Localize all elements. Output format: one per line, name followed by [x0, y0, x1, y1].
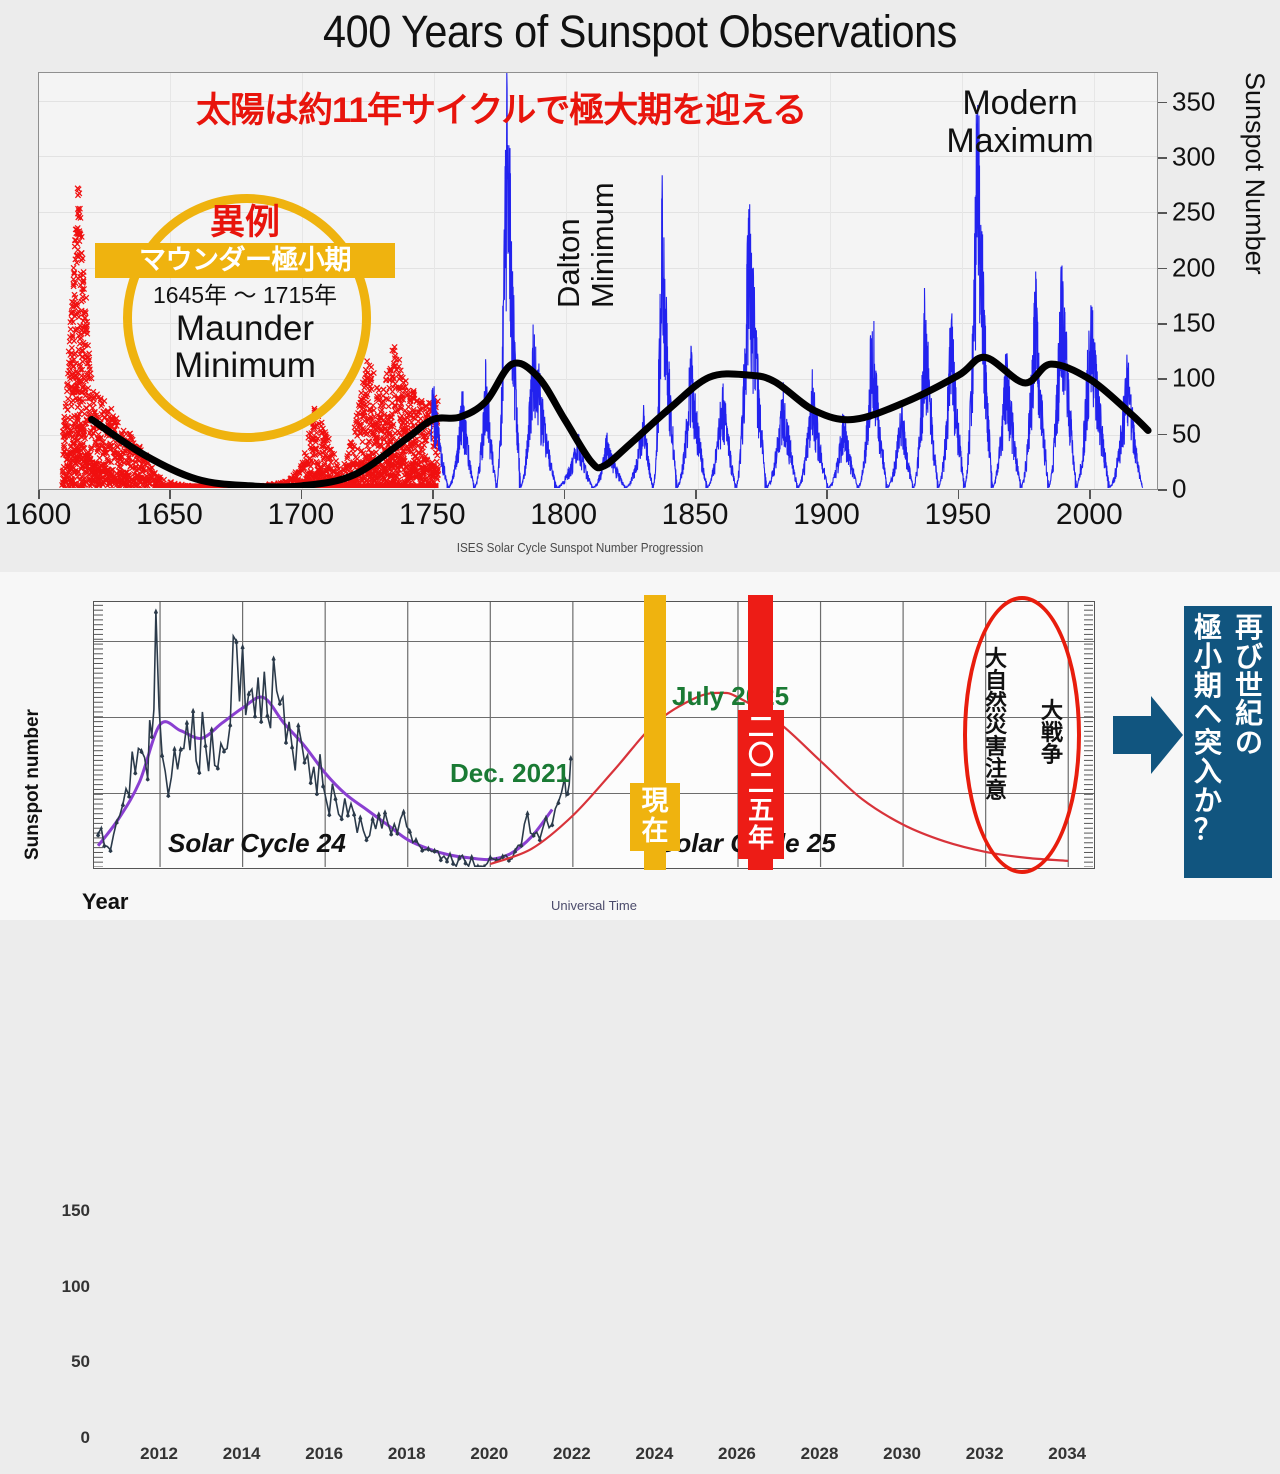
x-tick-label: 1800	[530, 498, 597, 532]
maunder-band-label: マウンダー極小期	[95, 243, 395, 278]
top-y-axis-label: Sunspot Number	[1230, 72, 1270, 492]
callout-column-right: 再び世紀の	[1229, 614, 1269, 758]
y-tick-label: 100	[1172, 363, 1215, 394]
maunder-en-line2: Minimum	[95, 347, 395, 385]
top-chart-panel: 400 Years of Sunspot Observations 太陽は約11…	[0, 0, 1280, 572]
dalton-minimum-label: Dalton Minimum	[552, 182, 620, 308]
dalton-minimum-line1: Dalton	[552, 182, 586, 308]
x-tick-label: 1950	[925, 498, 992, 532]
dalton-minimum-line2: Minimum	[586, 182, 620, 308]
page-title: 400 Years of Sunspot Observations	[51, 6, 1229, 58]
maunder-irei-label: 異例	[95, 205, 395, 240]
maunder-annotation: 異例 マウンダー極小期 1645年 ～ 1715年 Maunder Minimu…	[95, 205, 395, 385]
x-tick-label: 1750	[399, 498, 466, 532]
y-tick	[1158, 434, 1167, 436]
y-tick	[1158, 157, 1167, 159]
y-tick-label: 50	[1172, 418, 1201, 449]
arrow-icon	[1113, 690, 1183, 780]
bottom-chart-panel: 050100150 201220142016201820202022202420…	[0, 572, 1280, 920]
universal-time-caption: Universal Time	[93, 898, 1095, 913]
x-tick-label: 1900	[793, 498, 860, 532]
x-tick-label: 2014	[223, 1444, 261, 1464]
y-tick	[1158, 212, 1167, 214]
x-tick-label: 2022	[553, 1444, 591, 1464]
conclusion-callout-box: 再び世紀の 極小期へ突入か？	[1184, 606, 1272, 878]
current-time-marker-label: 現在	[630, 783, 680, 851]
modern-maximum-line1: Modern	[930, 84, 1110, 122]
top-x-axis: 160016501700175018001850190019502000	[38, 490, 1160, 530]
y-tick-label: 300	[1172, 142, 1215, 173]
x-tick-label: 2026	[718, 1444, 756, 1464]
y-tick	[1158, 268, 1167, 270]
x-tick-label: 2020	[470, 1444, 508, 1464]
y-tick-label: 200	[1172, 252, 1215, 283]
y-tick-label: 150	[1172, 308, 1215, 339]
maunder-en-line1: Maunder	[95, 310, 395, 348]
x-tick-label: 2030	[883, 1444, 921, 1464]
year-2025-marker-label: 二〇二五年	[738, 710, 784, 859]
solar-cycle-24-label: Solar Cycle 24	[168, 828, 346, 859]
headline-japanese: 太陽は約11年サイクルで極大期を迎える	[196, 82, 806, 133]
maunder-years-label: 1645年 ～ 1715年	[95, 282, 395, 310]
y-tick-label: 0	[1172, 474, 1186, 505]
x-tick-label: 1850	[662, 498, 729, 532]
warning-natural-disaster-label: 大自然災害注意	[984, 648, 1008, 802]
dec-2021-label: Dec. 2021	[450, 758, 570, 789]
x-tick-label: 2012	[140, 1444, 178, 1464]
warning-great-war-label: 大戦争	[1040, 700, 1064, 766]
x-tick-label: 2034	[1048, 1444, 1086, 1464]
y-tick-label: 350	[1172, 86, 1215, 117]
y-tick-label: 250	[1172, 197, 1215, 228]
y-tick	[1158, 102, 1167, 104]
callout-column-left: 極小期へ突入か？	[1188, 614, 1228, 845]
bottom-x-axis: 2012201420162018202020222024202620282030…	[93, 1444, 1098, 1474]
bottom-y-axis: 050100150	[40, 1173, 90, 1441]
y-tick-label: 0	[81, 1428, 90, 1448]
y-tick	[1158, 323, 1167, 325]
x-tick-label: 2018	[388, 1444, 426, 1464]
x-tick-label: 2016	[305, 1444, 343, 1464]
x-tick-label: 2000	[1056, 498, 1123, 532]
modern-maximum-label: Modern Maximum	[930, 84, 1110, 160]
x-tick-label: 2032	[966, 1444, 1004, 1464]
y-tick	[1158, 378, 1167, 380]
y-tick-label: 50	[71, 1352, 90, 1372]
y-tick-label: 100	[62, 1277, 90, 1297]
ises-caption: ISES Solar Cycle Sunspot Number Progress…	[58, 540, 1102, 555]
x-tick-label: 1700	[267, 498, 334, 532]
y-tick-label: 150	[62, 1201, 90, 1221]
x-tick-label: 1650	[136, 498, 203, 532]
bottom-y-axis-label: Sunspot number	[22, 560, 44, 860]
x-tick-label: 2024	[635, 1444, 673, 1464]
maunder-english-label: Maunder Minimum	[95, 310, 395, 386]
modern-maximum-line2: Maximum	[930, 122, 1110, 160]
x-tick-label: 2028	[801, 1444, 839, 1464]
x-tick-label: 1600	[5, 498, 72, 532]
